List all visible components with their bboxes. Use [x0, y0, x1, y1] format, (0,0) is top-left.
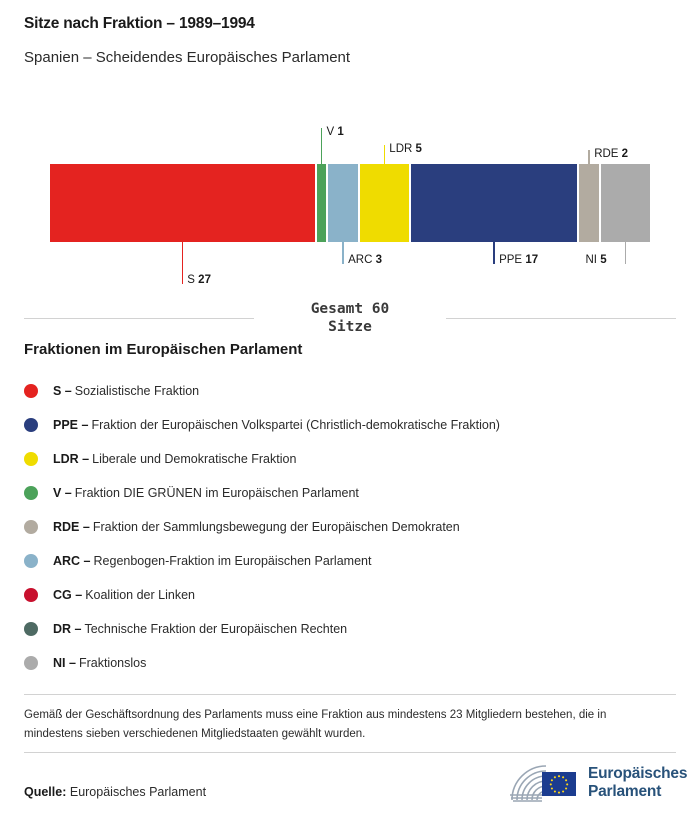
- total-seats-value: Gesamt 60: [280, 300, 420, 318]
- legend-color-dot: [24, 622, 38, 636]
- footnote-divider-top: [24, 694, 676, 695]
- legend-item-v[interactable]: V –Fraktion DIE GRÜNEN im Europäischen P…: [24, 476, 680, 510]
- ep-hemicycle-icon: [508, 762, 582, 804]
- legend-item-ldr[interactable]: LDR –Liberale und Demokratische Fraktion: [24, 442, 680, 476]
- legend-item-description: Liberale und Demokratische Fraktion: [92, 451, 296, 467]
- legend-item-s[interactable]: S –Sozialistische Fraktion: [24, 374, 680, 408]
- total-seats-row: Gesamt 60Sitze: [24, 298, 676, 338]
- european-parliament-logo: Europäisches Parlament: [508, 760, 676, 806]
- chart-header: Sitze nach Fraktion – 1989–1994 Spanien …: [24, 14, 676, 68]
- legend-list: S –Sozialistische FraktionPPE –Fraktion …: [24, 374, 680, 680]
- callout-label-ldr: LDR 5: [389, 143, 422, 156]
- legend-item-description: Fraktion DIE GRÜNEN im Europäischen Parl…: [75, 485, 359, 501]
- bar-segment-ni[interactable]: [601, 164, 650, 242]
- callout-line-ni: [625, 242, 627, 264]
- legend-color-dot: [24, 384, 38, 398]
- legend-item-ppe[interactable]: PPE –Fraktion der Europäischen Volkspart…: [24, 408, 680, 442]
- legend-item-abbr: CG –: [53, 587, 85, 603]
- source-line: Quelle: Europäisches Parlament: [24, 784, 206, 800]
- legend-item-abbr: V –: [53, 485, 75, 501]
- legend-item-description: Fraktion der Sammlungsbewegung der Europ…: [93, 519, 460, 535]
- legend-item-ni[interactable]: NI –Fraktionslos: [24, 646, 680, 680]
- callout-line-ldr: [384, 145, 386, 164]
- legend-item-abbr: PPE –: [53, 417, 91, 433]
- legend-item-description: Fraktion der Europäischen Volkspartei (C…: [91, 417, 500, 433]
- legend-color-dot: [24, 418, 38, 432]
- bar-segment-s[interactable]: [50, 164, 315, 242]
- footnote-divider-bottom: [24, 752, 676, 753]
- legend-color-dot: [24, 656, 38, 670]
- legend-heading: Fraktionen im Europäischen Parlament: [24, 340, 680, 360]
- page-subtitle: Spanien – Scheidendes Europäisches Parla…: [24, 34, 676, 68]
- total-seats-label: Gesamt 60Sitze: [254, 300, 446, 336]
- legend-item-description: Regenbogen-Fraktion im Europäischen Parl…: [94, 553, 372, 569]
- ep-logo-line1: Europäisches: [588, 765, 687, 783]
- callout-line-s: [182, 242, 184, 284]
- source-value: Europäisches Parlament: [70, 785, 206, 799]
- legend-item-description: Fraktionslos: [79, 655, 146, 671]
- callout-label-ppe: PPE 17: [499, 254, 538, 267]
- callout-label-arc: ARC 3: [348, 254, 382, 267]
- bar-segment-rde[interactable]: [579, 164, 599, 242]
- total-seats-unit: Sitze: [280, 318, 420, 336]
- callout-label-ni: NI 5: [586, 254, 607, 267]
- legend-item-abbr: DR –: [53, 621, 84, 637]
- legend-item-arc[interactable]: ARC –Regenbogen-Fraktion im Europäischen…: [24, 544, 680, 578]
- legend-color-dot: [24, 554, 38, 568]
- legend-color-dot: [24, 588, 38, 602]
- callout-line-rde: [588, 150, 590, 164]
- legend-item-abbr: LDR –: [53, 451, 92, 467]
- bar-segment-arc[interactable]: [328, 164, 357, 242]
- legend-item-abbr: S –: [53, 383, 75, 399]
- legend-item-abbr: NI –: [53, 655, 79, 671]
- legend-color-dot: [24, 452, 38, 466]
- legend-item-cg[interactable]: CG –Koalition der Linken: [24, 578, 680, 612]
- legend-color-dot: [24, 520, 38, 534]
- callout-line-ppe: [493, 242, 495, 264]
- source-label: Quelle:: [24, 785, 66, 799]
- bar-segment-v[interactable]: [317, 164, 327, 242]
- legend: Fraktionen im Europäischen Parlament S –…: [24, 340, 680, 680]
- callout-line-arc: [342, 242, 344, 264]
- legend-item-rde[interactable]: RDE –Fraktion der Sammlungsbewegung der …: [24, 510, 680, 544]
- footnote-text: Gemäß der Geschäftsordnung des Parlament…: [24, 706, 664, 744]
- legend-item-description: Sozialistische Fraktion: [75, 383, 199, 399]
- stacked-seat-bar: [50, 164, 650, 242]
- legend-item-dr[interactable]: DR –Technische Fraktion der Europäischen…: [24, 612, 680, 646]
- legend-item-description: Koalition der Linken: [85, 587, 195, 603]
- callout-line-v: [321, 128, 323, 164]
- ep-logo-text: Europäisches Parlament: [588, 765, 687, 801]
- callout-label-s: S 27: [187, 274, 211, 287]
- ep-logo-line2: Parlament: [588, 783, 687, 801]
- page-title: Sitze nach Fraktion – 1989–1994: [24, 14, 676, 34]
- callout-label-rde: RDE 2: [594, 148, 628, 161]
- legend-color-dot: [24, 486, 38, 500]
- bar-segment-ppe[interactable]: [411, 164, 578, 242]
- callout-label-v: V 1: [327, 126, 344, 139]
- divider-right: [446, 318, 676, 319]
- divider-left: [24, 318, 254, 319]
- legend-item-abbr: RDE –: [53, 519, 93, 535]
- legend-item-description: Technische Fraktion der Europäischen Rec…: [84, 621, 347, 637]
- legend-item-abbr: ARC –: [53, 553, 94, 569]
- bar-segment-ldr[interactable]: [360, 164, 409, 242]
